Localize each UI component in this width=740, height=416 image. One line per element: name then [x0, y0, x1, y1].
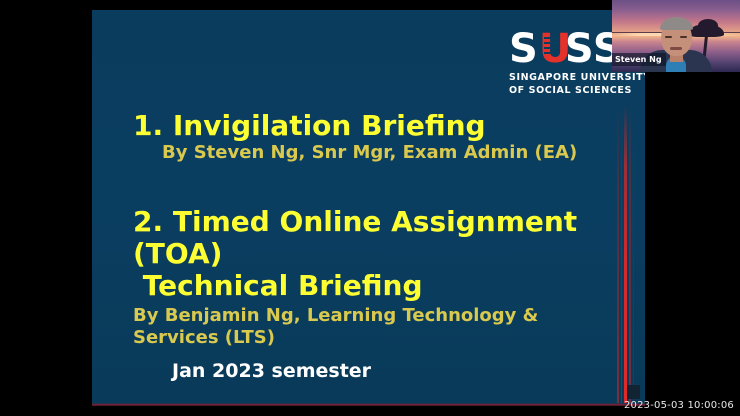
logo-letter-u: U: [539, 28, 565, 70]
person-hair: [660, 17, 693, 30]
suss-subline-2: OF SOCIAL SCIENCES: [509, 84, 645, 97]
person-eye-left: [665, 36, 672, 38]
person-mouth: [670, 47, 682, 50]
shared-slide[interactable]: SUSS SINGAPORE UNIVERSITY OF SOCIAL SCIE…: [92, 10, 645, 406]
video-artifact-block: [627, 385, 640, 399]
participant-video-tile[interactable]: Steven Ng: [612, 0, 740, 72]
video-call-screen: SUSS SINGAPORE UNIVERSITY OF SOCIAL SCIE…: [0, 0, 740, 416]
logo-letter-s1: S: [509, 28, 539, 70]
streak-3: [624, 105, 627, 403]
semester-label: Jan 2023 semester: [172, 359, 371, 383]
slide-body: 1. Invigilation Briefing By Steven Ng, S…: [133, 110, 623, 349]
suss-subline: SINGAPORE UNIVERSITY OF SOCIAL SCIENCES: [509, 71, 645, 97]
agenda-item-1-heading: 1. Invigilation Briefing: [133, 110, 623, 142]
agenda-item-2: 2. Timed Online Assignment (TOA) Technic…: [133, 206, 623, 349]
recording-timestamp: 2023-05-03 10:00:06: [624, 399, 734, 412]
streak-5: [633, 105, 634, 403]
agenda-item-2-byline: By Benjamin Ng, Learning Technology & Se…: [133, 305, 623, 349]
slide-bottom-rule: [92, 403, 645, 406]
agenda-item-2-heading: 2. Timed Online Assignment (TOA) Technic…: [133, 206, 623, 302]
agenda-item-1-byline: By Steven Ng, Snr Mgr, Exam Admin (EA): [162, 142, 623, 164]
participant-name-label: Steven Ng: [612, 53, 666, 66]
person-eye-right: [680, 36, 687, 38]
streak-4: [629, 105, 631, 403]
agenda-item-1: 1. Invigilation Briefing By Steven Ng, S…: [133, 110, 623, 164]
suss-subline-1: SINGAPORE UNIVERSITY: [509, 71, 645, 84]
